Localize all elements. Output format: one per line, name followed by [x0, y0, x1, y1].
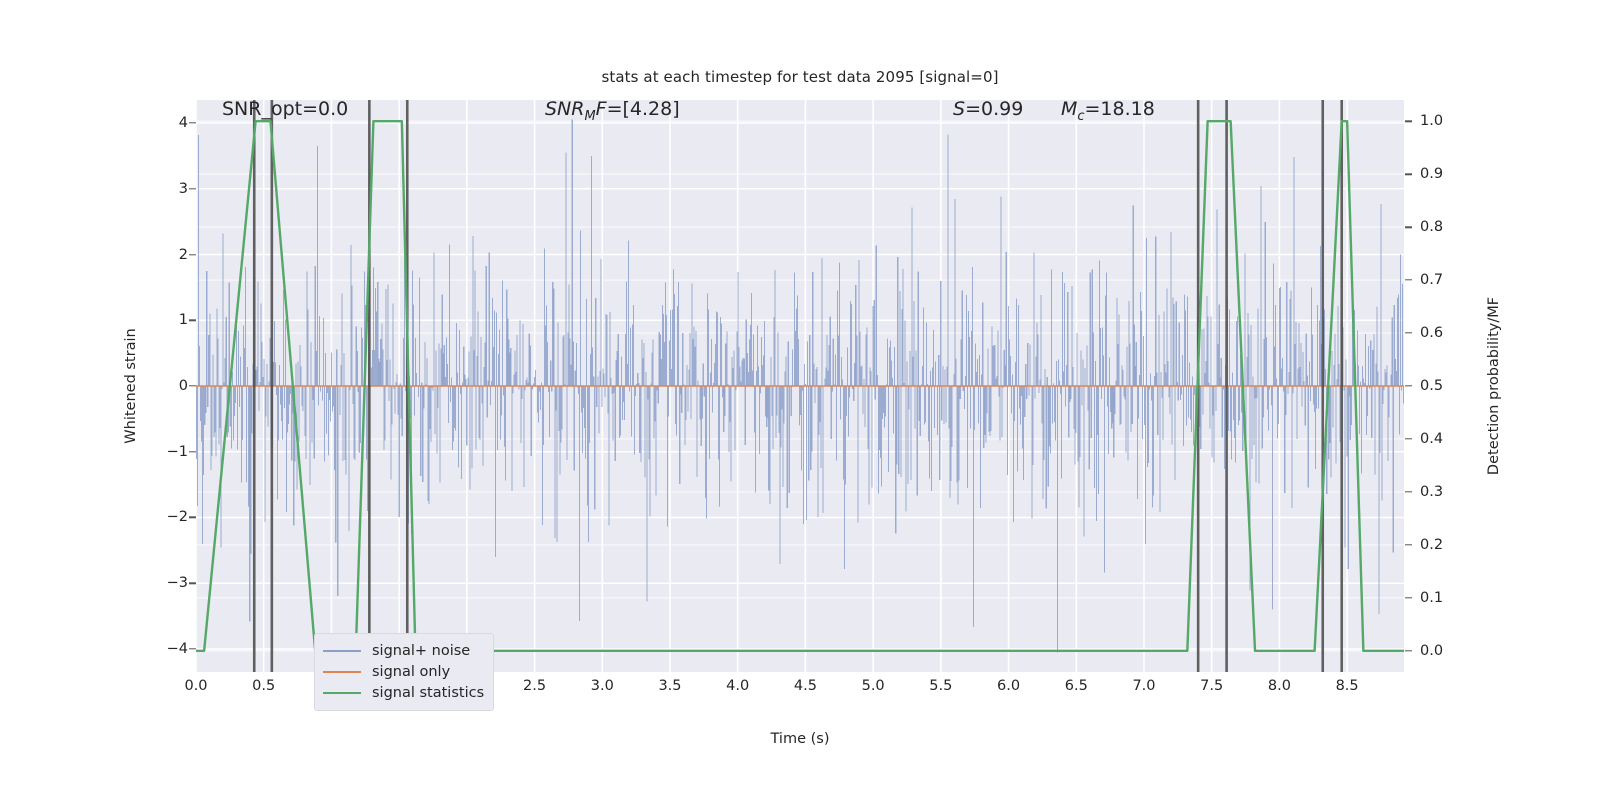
y-tick-mark-right: [1405, 544, 1412, 545]
y-tick-label-right: 0.4: [1420, 431, 1443, 447]
page-title: stats at each timestep for test data 209…: [196, 68, 1404, 86]
legend-label: signal+ noise: [372, 643, 470, 659]
y-tick-mark-left: [189, 648, 196, 649]
figure-canvas: stats at each timestep for test data 209…: [0, 0, 1600, 800]
y-tick-mark-right: [1405, 120, 1412, 121]
x-axis-label: Time (s): [771, 731, 830, 747]
y-tick-label-left: 4: [179, 115, 188, 131]
y-tick-mark-left: [189, 583, 196, 584]
y-tick-label-left: 3: [179, 181, 188, 197]
y-tick-mark-left: [189, 122, 196, 123]
y-tick-label-left: −4: [167, 641, 188, 657]
legend-swatch-icon: [323, 671, 361, 673]
data-layer: [196, 100, 1404, 672]
y-tick-mark-left: [189, 385, 196, 386]
y-tick-label-left: −1: [167, 444, 188, 460]
x-tick-label: 0.0: [184, 678, 207, 694]
y-tick-mark-right: [1405, 332, 1412, 333]
legend-item: signal statistics: [323, 682, 485, 703]
y-tick-label-right: 0.1: [1420, 590, 1443, 606]
x-tick-label: 0.5: [252, 678, 275, 694]
x-tick-label: 6.5: [1065, 678, 1088, 694]
y-tick-label-left: −2: [167, 509, 188, 525]
legend-label: signal statistics: [372, 685, 484, 701]
y-axis-label-left: Whitened strain: [123, 328, 139, 443]
y-tick-label-right: 0.6: [1420, 325, 1443, 341]
y-tick-label-left: 2: [179, 247, 188, 263]
legend-label: signal only: [372, 664, 450, 680]
y-tick-label-right: 0.7: [1420, 272, 1443, 288]
y-tick-mark-left: [189, 188, 196, 189]
x-tick-label: 3.5: [658, 678, 681, 694]
legend: signal+ noisesignal onlysignal statistic…: [314, 633, 494, 711]
x-tick-label: 8.5: [1336, 678, 1359, 694]
legend-item: signal+ noise: [323, 640, 485, 661]
x-tick-label: 5.0: [862, 678, 885, 694]
y-tick-mark-right: [1405, 226, 1412, 227]
y-tick-mark-left: [189, 517, 196, 518]
y-tick-mark-left: [189, 320, 196, 321]
y-tick-label-right: 0.3: [1420, 484, 1443, 500]
y-tick-mark-right: [1405, 438, 1412, 439]
y-tick-mark-right: [1405, 385, 1412, 386]
x-tick-label: 6.0: [997, 678, 1020, 694]
y-tick-mark-right: [1405, 597, 1412, 598]
y-tick-mark-right: [1405, 173, 1412, 174]
annotation-s-stat: S=0.99: [953, 100, 1023, 119]
y-tick-label-left: −3: [167, 575, 188, 591]
annotation-snr-mf: SNRMF=[4.28]: [545, 100, 680, 124]
legend-item: signal only: [323, 661, 485, 682]
y-axis-label-right: Detection probability/MF: [1486, 297, 1502, 475]
plot-area: [196, 100, 1404, 672]
x-tick-label: 3.0: [591, 678, 614, 694]
x-tick-label: 5.5: [929, 678, 952, 694]
y-tick-mark-left: [189, 254, 196, 255]
y-tick-mark-right: [1405, 650, 1412, 651]
y-tick-label-left: 0: [179, 378, 188, 394]
y-tick-label-right: 0.8: [1420, 219, 1443, 235]
x-tick-label: 7.0: [1132, 678, 1155, 694]
x-tick-label: 2.5: [523, 678, 546, 694]
annotation-mchirp: Mc=18.18: [1061, 100, 1155, 124]
y-tick-label-right: 1.0: [1420, 113, 1443, 129]
x-tick-label: 8.0: [1268, 678, 1291, 694]
annotation-snr-opt: SNR_opt=0.0: [222, 100, 348, 119]
y-tick-mark-right: [1405, 279, 1412, 280]
y-tick-mark-right: [1405, 491, 1412, 492]
legend-swatch-icon: [323, 692, 361, 694]
x-tick-label: 4.5: [794, 678, 817, 694]
y-tick-label-right: 0.9: [1420, 166, 1443, 182]
y-tick-label-left: 1: [179, 312, 188, 328]
legend-swatch-icon: [323, 650, 361, 652]
y-tick-label-right: 0.5: [1420, 378, 1443, 394]
y-tick-label-right: 0.2: [1420, 537, 1443, 553]
x-tick-label: 4.0: [726, 678, 749, 694]
y-tick-label-right: 0.0: [1420, 643, 1443, 659]
x-tick-label: 7.5: [1200, 678, 1223, 694]
y-tick-mark-left: [189, 451, 196, 452]
